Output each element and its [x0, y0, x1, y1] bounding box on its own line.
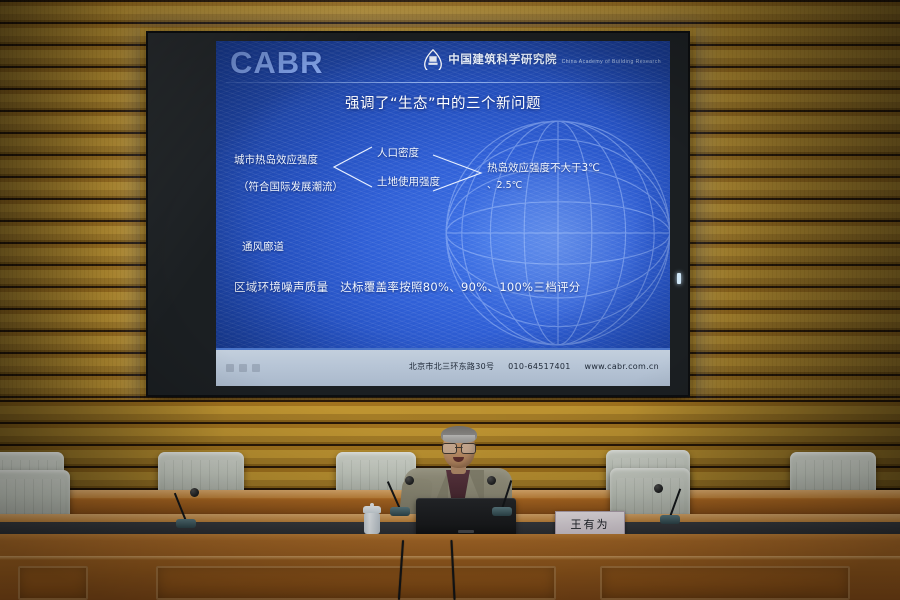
slide-vignette	[216, 41, 670, 386]
teacup-lid	[363, 506, 381, 513]
teacup-body	[364, 513, 380, 534]
microphone-base	[492, 507, 512, 516]
microphone-stem	[669, 488, 681, 517]
microphone-head	[487, 476, 496, 485]
footer-address: 北京市北三环东路30号	[409, 362, 494, 371]
footer-decor-icons	[226, 364, 260, 372]
glasses-lens-right	[461, 443, 476, 454]
glasses-lens-left	[442, 443, 457, 454]
desk-panel	[600, 566, 850, 600]
lidded-teacup	[363, 506, 381, 536]
front-desk-moulding	[0, 556, 900, 560]
nameplate-text: 王有为	[571, 516, 610, 532]
presentation-slide: CABR 中国建筑科学研究院 China Academy of Building…	[216, 41, 670, 386]
presenter-hair	[441, 426, 477, 443]
footer-contact: 北京市北三环东路30号 010-64517401 www.cabr.com.cn	[398, 361, 659, 372]
microphone-stem	[174, 493, 187, 522]
gooseneck-microphone	[176, 488, 198, 528]
microphone-stem	[501, 480, 512, 509]
glasses-icon	[442, 443, 476, 452]
microphone-head	[405, 476, 414, 485]
footer-icon-3	[252, 364, 260, 372]
gooseneck-microphone	[660, 484, 682, 524]
footer-icon-2	[239, 364, 247, 372]
microphone-base	[660, 515, 680, 524]
footer-website: www.cabr.com.cn	[584, 362, 659, 371]
microphone-base	[176, 519, 196, 528]
desk-panel	[156, 566, 556, 600]
microphone-base	[390, 507, 410, 516]
footer-phone: 010-64517401	[508, 362, 570, 371]
desk-panel	[18, 566, 88, 600]
slide-footer: 北京市北三环东路30号 010-64517401 www.cabr.com.cn	[216, 348, 670, 386]
conference-presentation-photo: CABR 中国建筑科学研究院 China Academy of Building…	[0, 0, 900, 600]
screen-indicator-light	[677, 273, 681, 284]
projection-screen: CABR 中国建筑科学研究院 China Academy of Building…	[148, 33, 688, 395]
microphone-head	[190, 488, 199, 497]
gooseneck-microphone	[492, 476, 514, 516]
microphone-head	[654, 484, 663, 493]
gooseneck-microphone	[390, 476, 412, 516]
footer-icon-1	[226, 364, 234, 372]
